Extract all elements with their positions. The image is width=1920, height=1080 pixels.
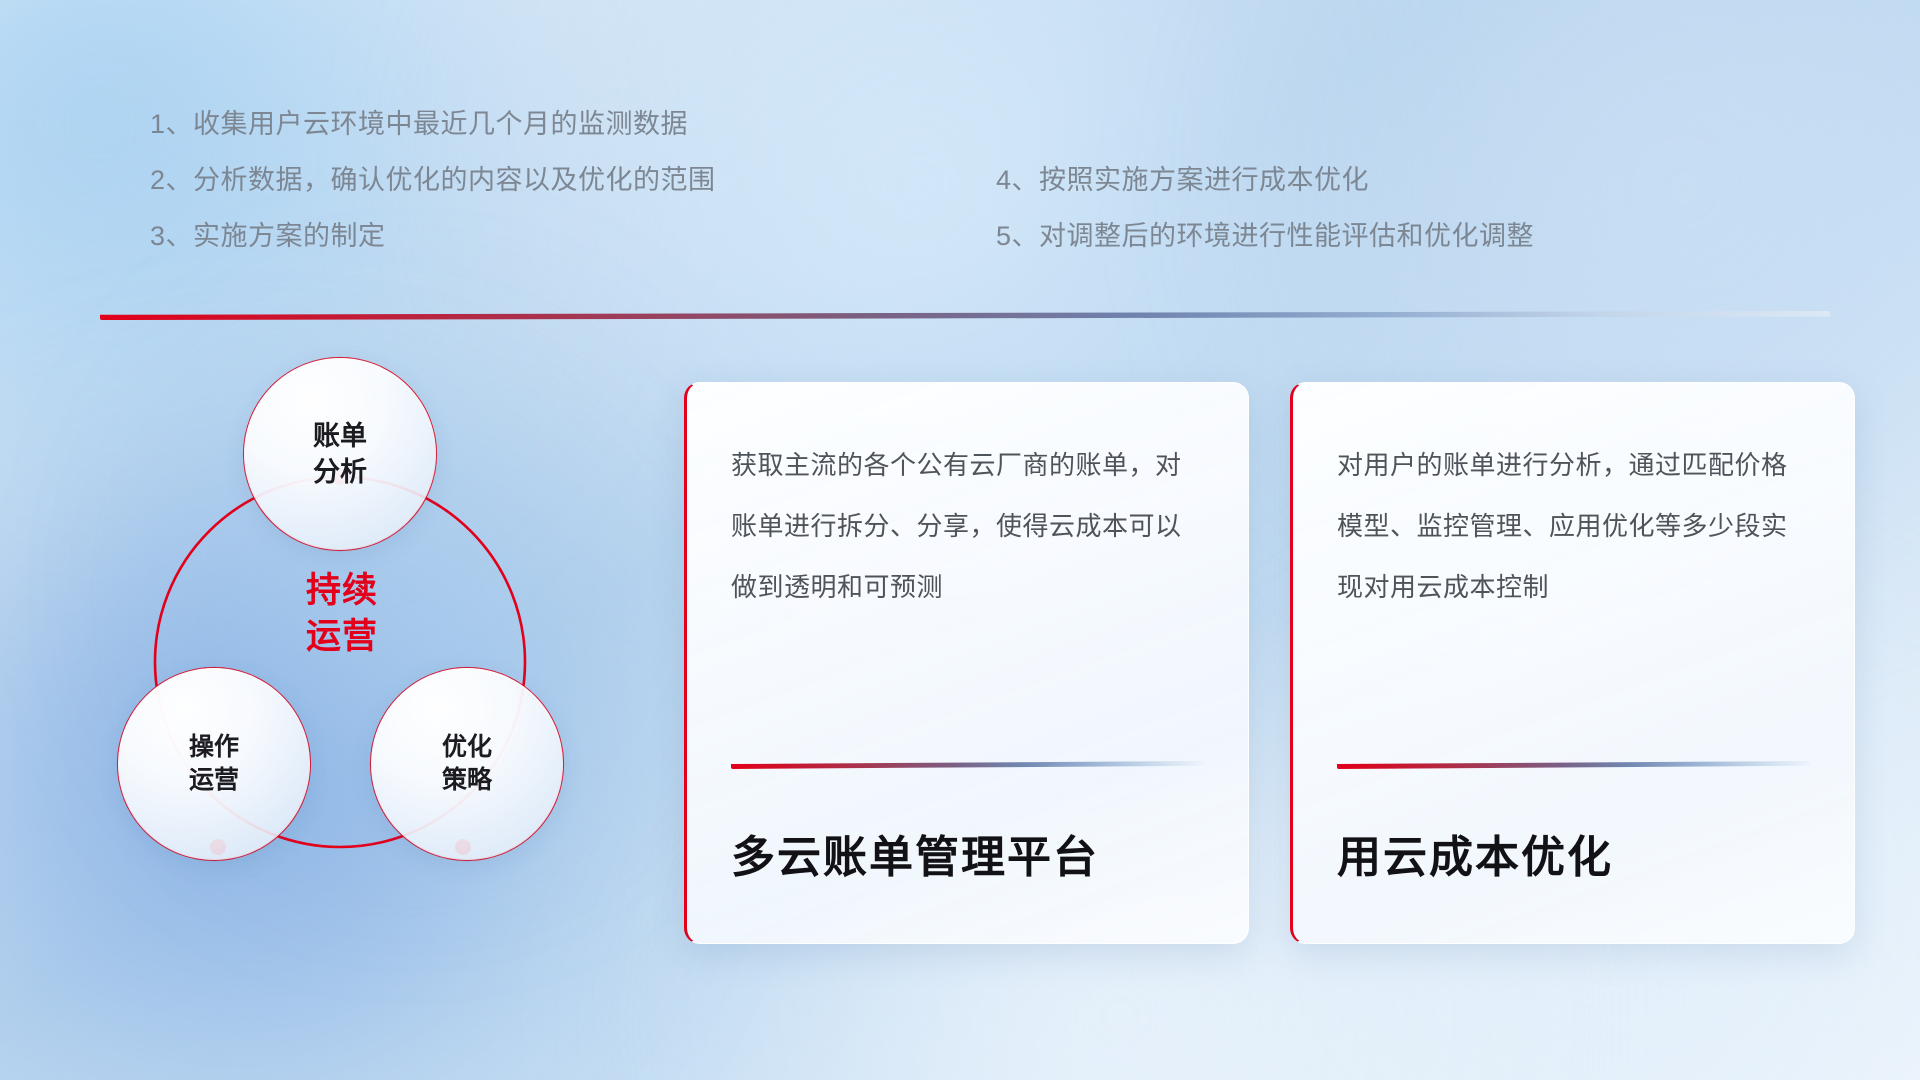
card-1-title: 多云账单管理平台 [731, 821, 1204, 885]
step-item-5: 5、对调整后的环境进行性能评估和优化调整 [996, 208, 1534, 264]
card-2-title: 用云成本优化 [1337, 821, 1810, 885]
steps-left-column: 1、收集用户云环境中最近几个月的监测数据 2、分析数据，确认优化的内容以及优化的… [150, 96, 716, 264]
bubble-operations[interactable]: 操作 运营 [118, 668, 310, 860]
bubble-optimization-strategy[interactable]: 优化 策略 [371, 668, 563, 860]
card-2-rule [1337, 761, 1810, 769]
step-item-2: 2、分析数据，确认优化的内容以及优化的范围 [150, 152, 716, 208]
card-1-body: 获取主流的各个公有云厂商的账单，对账单进行拆分、分享，使得云成本可以做到透明和可… [731, 435, 1204, 618]
step-item-4: 4、按照实施方案进行成本优化 [996, 152, 1534, 208]
diagram-center-line2: 运营 [306, 617, 378, 656]
bubble-optimization-strategy-line1: 优化 [442, 733, 492, 761]
bubble-optimization-strategy-line2: 策略 [442, 766, 492, 794]
card-cloud-cost-optimization[interactable]: 对用户的账单进行分析，通过匹配价格模型、监控管理、应用优化等多少段实现对用云成本… [1290, 382, 1855, 944]
diagram-center-label: 持续 运营 [278, 568, 406, 659]
continuous-operations-diagram: 账单 分析 操作 运营 优化 策略 持续 运营 [96, 350, 636, 950]
bubble-operations-line1: 操作 [189, 733, 239, 761]
bubble-bill-analysis[interactable]: 账单 分析 [244, 358, 436, 550]
card-2-body: 对用户的账单进行分析，通过匹配价格模型、监控管理、应用优化等多少段实现对用云成本… [1337, 435, 1810, 618]
bubble-bill-analysis-line1: 账单 [313, 421, 367, 451]
diagram-center-line1: 持续 [306, 571, 378, 610]
step-item-1: 1、收集用户云环境中最近几个月的监测数据 [150, 96, 716, 152]
bubble-bill-analysis-label: 账单 分析 [313, 418, 367, 490]
slide-content: 1、收集用户云环境中最近几个月的监测数据 2、分析数据，确认优化的内容以及优化的… [0, 0, 1920, 1080]
steps-right-column: 4、按照实施方案进行成本优化 5、对调整后的环境进行性能评估和优化调整 [996, 152, 1534, 264]
bubble-operations-line2: 运营 [189, 766, 239, 794]
card-multi-cloud-bill-platform[interactable]: 获取主流的各个公有云厂商的账单，对账单进行拆分、分享，使得云成本可以做到透明和可… [684, 382, 1249, 944]
bubble-optimization-strategy-label: 优化 策略 [442, 731, 492, 798]
section-divider [100, 311, 1830, 320]
bubble-operations-label: 操作 运营 [189, 731, 239, 798]
card-1-rule [731, 761, 1204, 769]
bubble-bill-analysis-line2: 分析 [313, 457, 367, 487]
step-item-3: 3、实施方案的制定 [150, 208, 716, 264]
